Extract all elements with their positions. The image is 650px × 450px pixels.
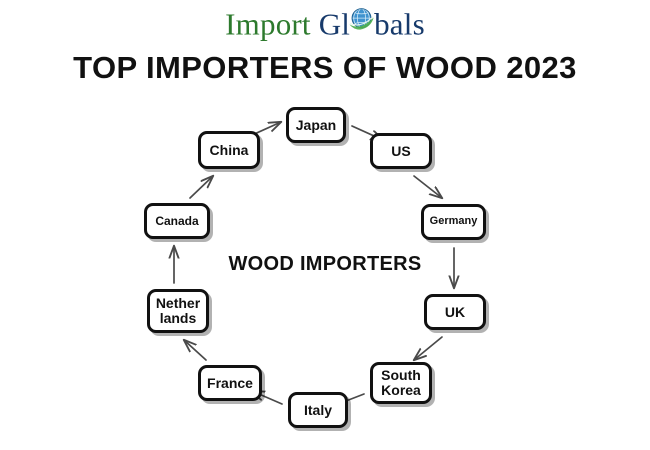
node-label: China bbox=[208, 143, 251, 158]
infographic-canvas: Import Gl bals TOP IMPORTERS OF WOOD 202… bbox=[0, 0, 650, 450]
node-uk[interactable]: UK bbox=[424, 294, 486, 330]
node-label: Japan bbox=[294, 118, 338, 133]
node-japan[interactable]: Japan bbox=[286, 107, 346, 143]
node-label: Canada bbox=[153, 215, 200, 228]
node-label: France bbox=[205, 376, 255, 391]
node-italy[interactable]: Italy bbox=[288, 392, 348, 428]
node-label: Netherlands bbox=[154, 296, 202, 325]
node-netherlands[interactable]: Netherlands bbox=[147, 289, 209, 333]
node-france[interactable]: France bbox=[198, 365, 262, 401]
node-label: SouthKorea bbox=[379, 368, 423, 397]
node-label: Italy bbox=[302, 403, 334, 418]
node-label: US bbox=[389, 144, 412, 159]
node-canada[interactable]: Canada bbox=[144, 203, 210, 239]
node-label: Germany bbox=[428, 216, 480, 228]
node-china[interactable]: China bbox=[198, 131, 260, 169]
node-south-korea[interactable]: SouthKorea bbox=[370, 362, 432, 404]
node-label: UK bbox=[443, 305, 467, 320]
cycle-arrows bbox=[0, 0, 650, 450]
node-germany[interactable]: Germany bbox=[421, 204, 486, 240]
node-us[interactable]: US bbox=[370, 133, 432, 169]
